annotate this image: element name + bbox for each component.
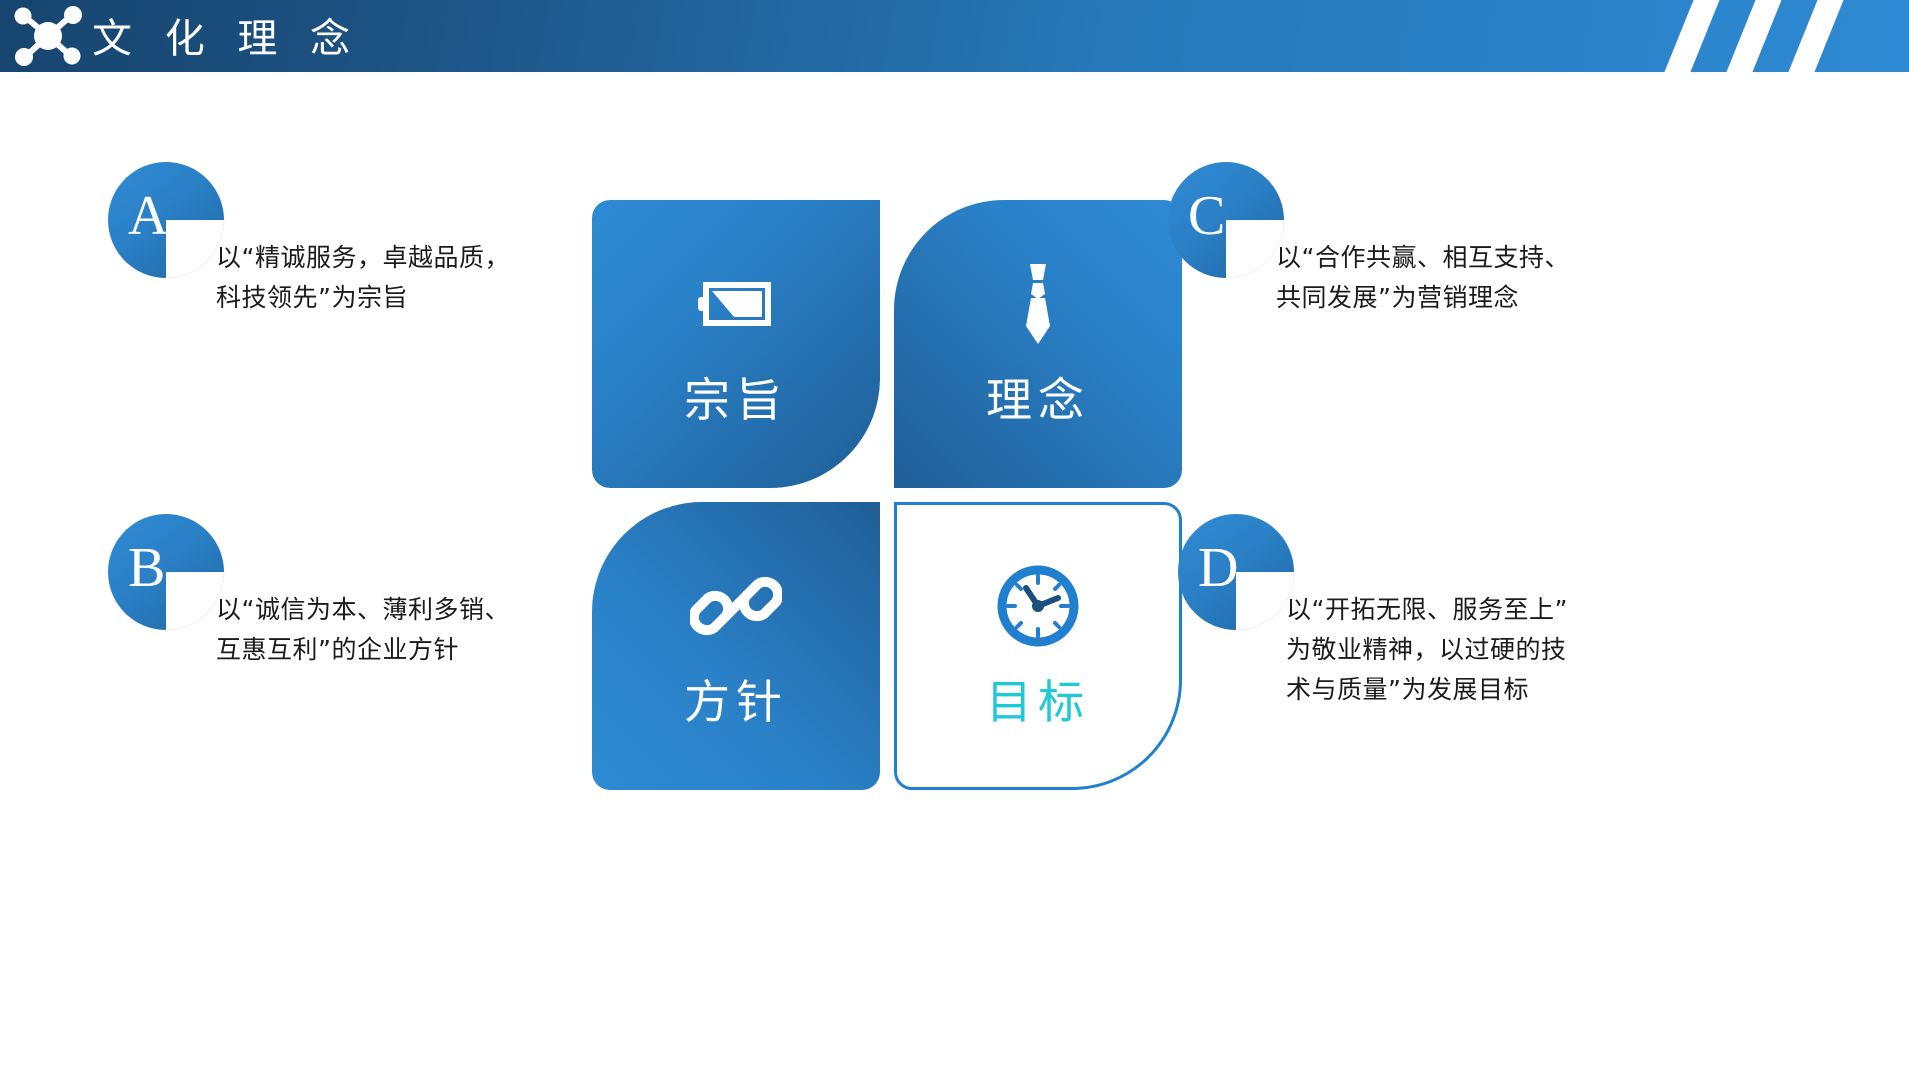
petal-goal[interactable]: 目标 [894,502,1182,790]
petal-label-policy: 方针 [684,666,788,732]
petal-label-goal: 目标 [986,666,1090,732]
petal-philosophy[interactable]: 理念 [894,200,1182,488]
slide-header: 文 化 理 念 [0,0,1909,72]
header-stripe-3 [1783,0,1849,72]
petal-label-purpose: 宗旨 [684,364,788,430]
culture-flower-diagram: 宗旨 理念 [592,200,1192,790]
callout-a[interactable]: A 以“精诚服务，卓越品质， 科技领先”为宗旨 [108,162,510,318]
molecule-network-icon [10,5,86,67]
slide-root: 文 化 理 念 宗旨 [0,0,1909,1073]
badge-circle-c: C [1168,162,1284,278]
necktie-icon [992,258,1084,350]
header-stripe-1 [1659,0,1725,72]
badge-letter-a: A [128,188,168,244]
callout-text-b: 以“诚信为本、薄利多销、 互惠互利”的企业方针 [216,590,510,670]
callout-text-c: 以“合作共赢、相互支持、 共同发展”为营销理念 [1276,238,1570,318]
petal-purpose[interactable]: 宗旨 [592,200,880,488]
page-title: 文 化 理 念 [92,6,360,64]
callout-text-d: 以“开拓无限、服务至上” 为敬业精神，以过硬的技 术与质量”为发展目标 [1286,590,1568,710]
header-stripe-decoration [1349,0,1909,72]
petal-label-philosophy: 理念 [986,364,1090,430]
badge-letter-b: B [128,540,165,596]
petal-policy[interactable]: 方针 [592,502,880,790]
badge-letter-d: D [1198,540,1238,596]
callout-b[interactable]: B 以“诚信为本、薄利多销、 互惠互利”的企业方针 [108,514,510,670]
battery-icon [690,258,782,350]
header-stripe-2 [1721,0,1787,72]
badge-letter-c: C [1188,188,1225,244]
clock-icon [992,560,1084,652]
chain-link-icon [690,560,782,652]
callout-text-a: 以“精诚服务，卓越品质， 科技领先”为宗旨 [216,238,510,318]
badge-circle-a: A [108,162,224,278]
badge-circle-b: B [108,514,224,630]
badge-circle-d: D [1178,514,1294,630]
callout-c[interactable]: C 以“合作共赢、相互支持、 共同发展”为营销理念 [1168,162,1570,318]
callout-d[interactable]: D 以“开拓无限、服务至上” 为敬业精神，以过硬的技 术与质量”为发展目标 [1178,514,1568,710]
